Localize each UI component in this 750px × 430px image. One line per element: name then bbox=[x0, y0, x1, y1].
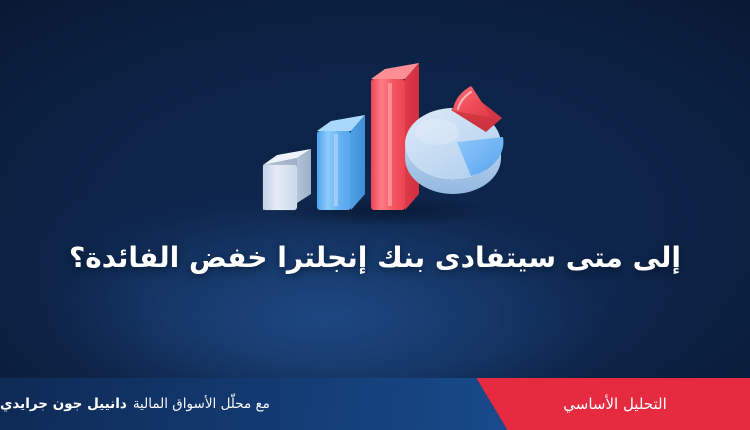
chart-illustration bbox=[255, 48, 505, 223]
headline-title: إلى متى سيتفادى بنك إنجلترا خفض الفائدة؟ bbox=[0, 240, 750, 276]
footer-credit: مع محلّل الأسواق المالية دانييل جون جراي… bbox=[0, 378, 340, 430]
promo-card: إلى متى سيتفادى بنك إنجلترا خفض الفائدة؟… bbox=[0, 0, 750, 430]
footer-bar: مع محلّل الأسواق المالية دانييل جون جراي… bbox=[0, 378, 750, 430]
bar-medium-blue bbox=[317, 115, 365, 210]
pie-chart-3d bbox=[405, 86, 503, 194]
footer-section-label: التحليل الأساسي bbox=[563, 395, 667, 413]
footer-author-name: دانييل جون جرايدي bbox=[0, 396, 127, 412]
footer-section-label-wrap: التحليل الأساسي bbox=[480, 378, 750, 430]
footer-credit-prefix: مع محلّل الأسواق المالية bbox=[133, 396, 270, 412]
